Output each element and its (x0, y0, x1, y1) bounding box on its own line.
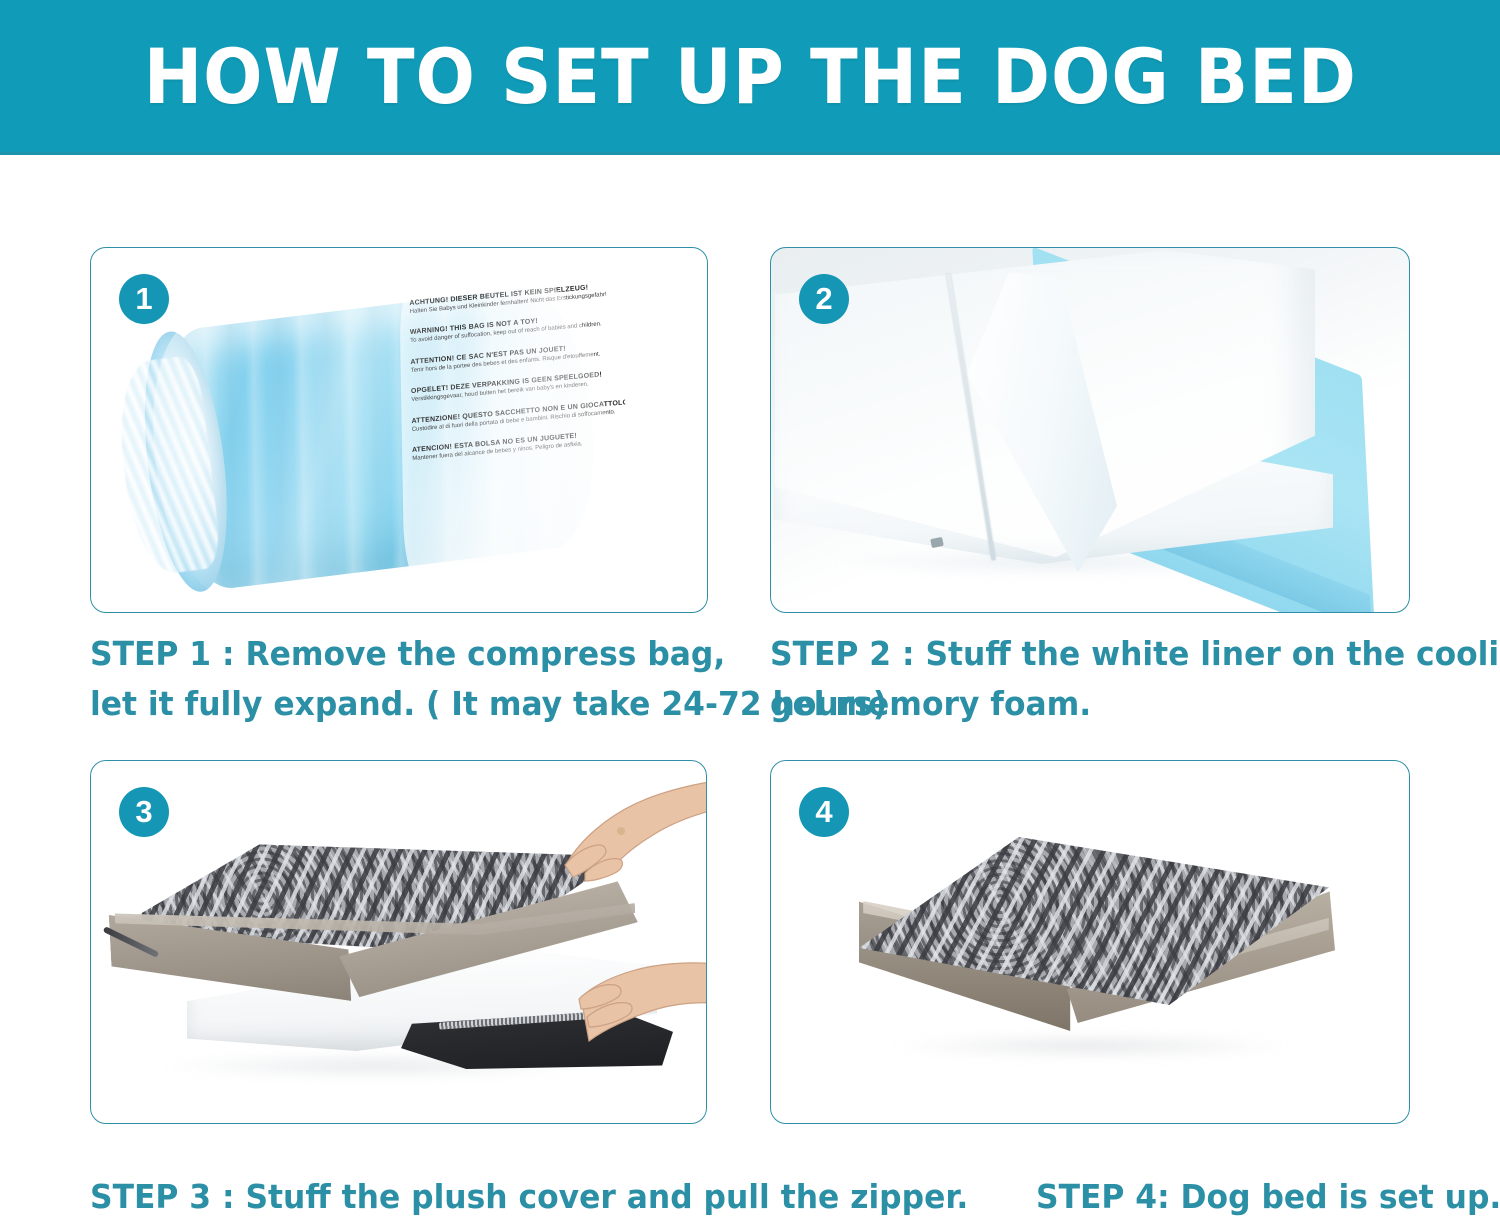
compressed-roll-illustration: ACHTUNG! DIESER BEUTEL IST KEIN SPIELZEU… (91, 248, 707, 612)
step-3: 3 (90, 760, 707, 1124)
step-1-caption-line: let it fully expand. ( It may take 24-72… (90, 679, 677, 729)
gray-plush-cover (105, 826, 626, 1003)
warning-label: ACHTUNG! DIESER BEUTEL IST KEIN SPIELZEU… (399, 265, 640, 581)
step-1-caption: STEP 1 : Remove the compress bag, let it… (90, 629, 708, 729)
hand-lower-icon (577, 945, 707, 1053)
page-header-banner: HOW TO SET UP THE DOG BED (0, 0, 1500, 155)
stuffing-plush-cover-illustration (91, 761, 706, 1123)
roll-group: ACHTUNG! DIESER BEUTEL IST KEIN SPIELZEU… (135, 253, 670, 613)
step-3-caption-line: STEP 3 : Stuff the plush cover and pull … (90, 1172, 968, 1222)
hand-upper-icon (559, 777, 707, 895)
step-2-caption-line: gel memory foam. (770, 679, 1378, 729)
step-1-caption-line: STEP 1 : Remove the compress bag, (90, 629, 677, 679)
bottom-caption-row: STEP 3 : Stuff the plush cover and pull … (90, 1172, 1450, 1222)
step-3-number-badge: 3 (119, 787, 169, 837)
step-2-image-panel: 2 (770, 247, 1410, 613)
page-title: HOW TO SET UP THE DOG BED (143, 32, 1356, 121)
warning-paragraph: ATENCION! ESTA BOLSA NO ES UN JUGUETE! M… (412, 427, 626, 463)
step-2-number-badge: 2 (799, 274, 849, 324)
step-1: ACHTUNG! DIESER BEUTEL IST KEIN SPIELZEU… (90, 247, 708, 729)
step-3-image-panel: 3 (90, 760, 707, 1124)
warning-paragraph: ATTENTION! CE SAC N'EST PAS UN JOUET! Te… (410, 339, 624, 375)
step-2-caption-line: STEP 2 : Stuff the white liner on the co… (770, 629, 1378, 679)
warning-paragraph: WARNING! THIS BAG IS NOT A TOY! To avoid… (410, 310, 624, 346)
liner-over-gel-foam-illustration (771, 248, 1409, 612)
step-4-caption-line: STEP 4: Dog bed is set up. (1036, 1172, 1500, 1222)
step-2: 2 STEP 2 : Stuff the white liner on the … (770, 247, 1410, 729)
warning-paragraph: ACHTUNG! DIESER BEUTEL IST KEIN SPIELZEU… (409, 280, 623, 316)
step-4-image-panel: 4 (770, 760, 1410, 1124)
assembled-dog-bed (859, 837, 1329, 1049)
steps-container: ACHTUNG! DIESER BEUTEL IST KEIN SPIELZEU… (0, 152, 1500, 1216)
step-4: 4 (770, 760, 1410, 1124)
warning-paragraph: ATTENZIONE! QUESTO SACCHETTO NON E UN GI… (411, 398, 625, 434)
warning-paragraph: OPGELET! DEZE VERPAKKING IS GEEN SPEELGO… (411, 369, 625, 405)
finished-dog-bed-illustration (771, 761, 1409, 1123)
step-4-number-badge: 4 (799, 787, 849, 837)
step-1-image-panel: ACHTUNG! DIESER BEUTEL IST KEIN SPIELZEU… (90, 247, 708, 613)
step-1-number-badge: 1 (119, 274, 169, 324)
step-2-caption: STEP 2 : Stuff the white liner on the co… (770, 629, 1410, 729)
